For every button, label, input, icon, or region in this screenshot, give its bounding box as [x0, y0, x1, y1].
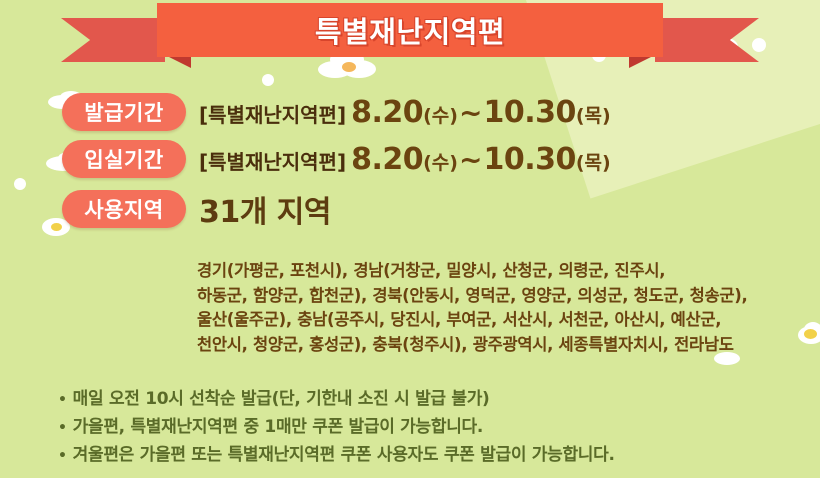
- info-row-issue-period: 발급기간 [특별재난지역편] 8.20 (수) ~ 10.30 (목): [62, 93, 782, 131]
- region-line: 울산(울주군), 충남(공주시, 당진시, 부여군, 서산시, 서천군, 아산시…: [197, 308, 807, 333]
- region-line: 천안시, 청양군, 홍성군), 충북(청주시), 광주광역시, 세종특별자치시,…: [197, 333, 807, 358]
- checkin-period-end-day: (목): [576, 148, 611, 175]
- note-line: • 겨울편은 가을편 또는 특별재난지역편 쿠폰 사용자도 쿠폰 발급이 가능합…: [58, 442, 798, 470]
- ribbon-tail-left: [61, 18, 165, 62]
- dot-decoration-center: [262, 74, 274, 86]
- ribbon-banner: 특별재난지역편: [157, 3, 663, 69]
- note-text: 매일 오전 10시 선착순 발급(단, 기한내 소진 시 발급 불가): [73, 386, 490, 413]
- issue-period-start-day: (수): [423, 101, 458, 128]
- checkin-period-tag: [특별재난지역편]: [199, 146, 346, 175]
- issue-period-value: [특별재난지역편] 8.20 (수) ~ 10.30 (목): [199, 95, 611, 130]
- usage-region-value: 31개 지역: [199, 187, 331, 231]
- note-text: 가을편, 특별재난지역편 중 1매만 쿠폰 발급이 가능합니다.: [73, 414, 483, 441]
- issue-period-end: 10.30: [483, 95, 575, 130]
- checkin-period-start: 8.20: [351, 142, 423, 177]
- issue-period-start: 8.20: [351, 95, 423, 130]
- dot-decoration-left-small: [14, 178, 26, 190]
- bullet-icon: •: [58, 415, 67, 442]
- info-rows: 발급기간 [특별재난지역편] 8.20 (수) ~ 10.30 (목) 입실기간…: [62, 93, 782, 240]
- issue-period-tag: [특별재난지역편]: [199, 99, 346, 128]
- bullet-icon: •: [58, 443, 67, 470]
- notes-list: • 매일 오전 10시 선착순 발급(단, 기한내 소진 시 발급 불가) • …: [58, 386, 798, 470]
- region-count: 31개 지역: [199, 187, 331, 231]
- promo-banner-stage: 특별재난지역편 발급기간 [특별재난지역편] 8.20 (수) ~ 10.30 …: [0, 0, 820, 478]
- banner-title: 특별재난지역편: [315, 9, 505, 51]
- region-list: 경기(가평군, 포천시), 경남(거창군, 밀양시, 산청군, 의령군, 진주시…: [197, 259, 807, 357]
- checkin-period-end: 10.30: [483, 142, 575, 177]
- issue-period-separator: ~: [459, 96, 482, 129]
- checkin-period-value: [특별재난지역편] 8.20 (수) ~ 10.30 (목): [199, 142, 611, 177]
- pill-label-issue-period: 발급기간: [62, 93, 186, 131]
- region-line: 하동군, 함양군, 합천군), 경북(안동시, 영덕군, 영양군, 의성군, 청…: [197, 284, 807, 309]
- pill-label-checkin-period: 입실기간: [62, 140, 186, 178]
- note-line: • 매일 오전 10시 선착순 발급(단, 기한내 소진 시 발급 불가): [58, 386, 798, 414]
- note-text: 겨울편은 가을편 또는 특별재난지역편 쿠폰 사용자도 쿠폰 발급이 가능합니다…: [73, 442, 615, 469]
- ribbon-main-panel: 특별재난지역편: [157, 3, 663, 57]
- info-row-checkin-period: 입실기간 [특별재난지역편] 8.20 (수) ~ 10.30 (목): [62, 140, 782, 178]
- note-line: • 가을편, 특별재난지역편 중 1매만 쿠폰 발급이 가능합니다.: [58, 414, 798, 442]
- issue-period-end-day: (목): [576, 101, 611, 128]
- checkin-period-start-day: (수): [423, 148, 458, 175]
- bullet-icon: •: [58, 387, 67, 414]
- checkin-period-separator: ~: [459, 143, 482, 176]
- info-row-usage-region: 사용지역 31개 지역: [62, 187, 782, 231]
- region-line: 경기(가평군, 포천시), 경남(거창군, 밀양시, 산청군, 의령군, 진주시…: [197, 259, 807, 284]
- ribbon-tail-right: [655, 18, 759, 62]
- pill-label-usage-region: 사용지역: [62, 190, 186, 228]
- dot-decoration-top-right: [752, 38, 766, 52]
